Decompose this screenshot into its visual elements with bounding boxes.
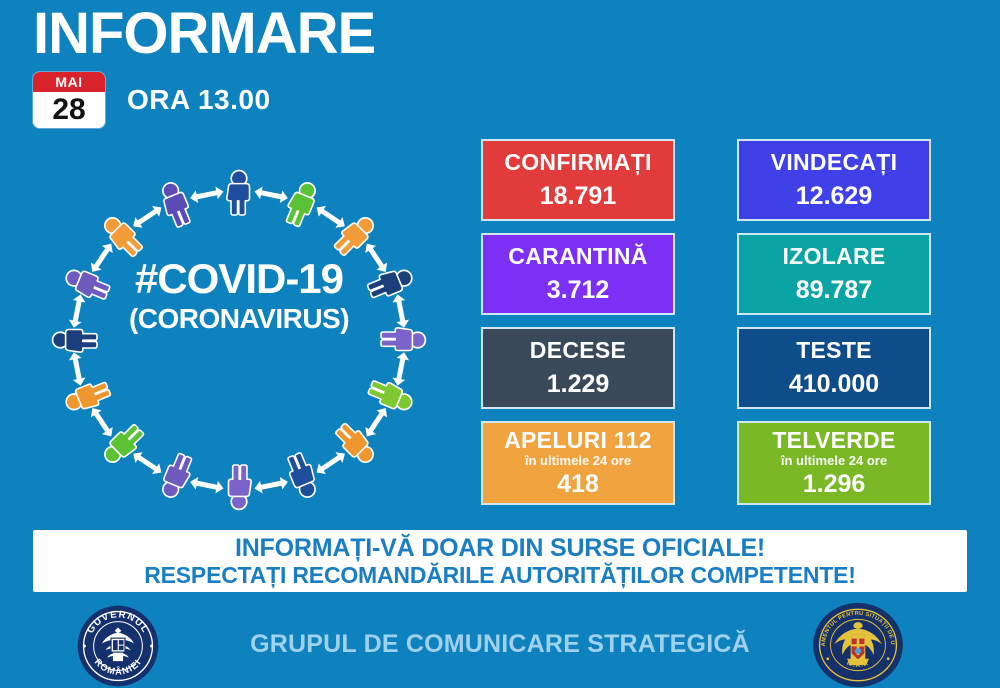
stat-note-telverde: în ultimele 24 ore [781, 453, 887, 468]
stat-box-confirmati: CONFIRMAȚI18.791 [481, 139, 675, 221]
stat-box-telverde: TELVERDEîn ultimele 24 ore1.296 [737, 421, 931, 505]
stat-box-teste: TESTE410.000 [737, 327, 931, 409]
connector-arrow-icon [253, 476, 289, 495]
stat-box-apeluri-112: APELURI 112în ultimele 24 ore418 [481, 421, 675, 505]
person-figure-icon [158, 451, 196, 501]
connector-arrow-icon [361, 240, 391, 275]
stat-value-confirmati: 18.791 [540, 181, 616, 211]
person-figure-icon [53, 330, 97, 353]
stat-value-carantina: 3.712 [547, 275, 610, 305]
person-figure-icon [282, 179, 320, 229]
infographic-canvas: INFORMARE MAI 28 ORA 13.00 #COVID-19 (CO… [0, 0, 1000, 688]
stat-value-apeluri-112: 418 [557, 469, 599, 499]
stat-label-vindecati: VINDECAȚI [771, 149, 898, 175]
official-sources-banner: INFORMAȚI-VĂ DOAR DIN SURSE OFICIALE! RE… [33, 530, 967, 592]
connector-arrow-icon [391, 293, 410, 329]
connector-arrow-icon [253, 185, 289, 204]
stat-label-teste: TESTE [796, 337, 872, 363]
stat-label-izolare: IZOLARE [782, 243, 885, 269]
stat-label-carantina: CARANTINĂ [508, 243, 647, 269]
stat-value-telverde: 1.296 [803, 469, 866, 499]
stat-label-confirmati: CONFIRMAȚI [504, 149, 651, 175]
covid-circle-graphic: #COVID-19 (CORONAVIRUS) [24, 160, 454, 520]
person-figure-icon [62, 266, 112, 304]
person-figure-icon [63, 378, 113, 416]
person-figure-icon [227, 171, 250, 215]
calendar-month: MAI [33, 72, 105, 92]
calendar-day: 28 [33, 92, 105, 128]
stat-value-teste: 410.000 [789, 369, 879, 399]
hour-label: ORA 13.00 [127, 84, 271, 116]
connector-arrow-icon [189, 476, 225, 495]
date-time-row: MAI 28 ORA 13.00 [33, 72, 271, 128]
banner-line-2: RESPECTAȚI RECOMANDĂRILE AUTORITĂȚILOR C… [144, 562, 856, 588]
person-figure-icon [156, 179, 194, 229]
guvernul-romaniei-logo: GUVERNUL ROMÂNIEI [76, 604, 160, 688]
stat-row: APELURI 112în ultimele 24 ore418TELVERDE… [481, 421, 931, 505]
connector-arrow-icon [313, 448, 348, 478]
stat-row: DECESE1.229TESTE410.000 [481, 327, 931, 409]
connector-arrow-icon [391, 351, 410, 387]
connector-arrow-icon [361, 405, 391, 440]
people-circle-svg [24, 160, 454, 520]
stat-box-carantina: CARANTINĂ3.712 [481, 233, 675, 315]
banner-line-1: INFORMAȚI-VĂ DOAR DIN SURSE OFICIALE! [235, 534, 765, 562]
dsu-mai-logo: DEPARTAMENTUL PENTRU SITUAȚII DE URGENȚĂ… [812, 602, 904, 688]
connector-arrow-icon [68, 351, 87, 387]
connector-arrow-icon [87, 240, 117, 275]
stat-box-decese: DECESE1.229 [481, 327, 675, 409]
connector-arrow-icon [313, 202, 348, 232]
person-figure-icon [381, 328, 425, 351]
page-title: INFORMARE [33, 2, 375, 66]
statistics-grid: CONFIRMAȚI18.791VINDECAȚI12.629CARANTINĂ… [481, 139, 931, 517]
person-figure-icon [229, 465, 252, 509]
stat-row: CARANTINĂ3.712IZOLARE89.787 [481, 233, 931, 315]
connector-arrow-icon [130, 448, 165, 478]
person-figure-icon [366, 377, 416, 415]
stat-value-vindecati: 12.629 [796, 181, 872, 211]
person-figure-icon [365, 264, 415, 302]
stat-label-telverde: TELVERDE [772, 428, 895, 453]
stat-box-izolare: IZOLARE89.787 [737, 233, 931, 315]
stat-box-vindecati: VINDECAȚI12.629 [737, 139, 931, 221]
stat-label-apeluri-112: APELURI 112 [504, 428, 652, 453]
connector-arrow-icon [87, 405, 117, 440]
stat-value-decese: 1.229 [547, 369, 610, 399]
stat-note-apeluri-112: în ultimele 24 ore [525, 453, 631, 468]
person-figure-icon [284, 451, 322, 501]
stat-row: CONFIRMAȚI18.791VINDECAȚI12.629 [481, 139, 931, 221]
stat-value-izolare: 89.787 [796, 275, 872, 305]
connector-arrow-icon [68, 293, 87, 329]
stat-label-decese: DECESE [530, 337, 626, 363]
connector-arrow-icon [130, 202, 165, 232]
connector-arrow-icon [189, 185, 225, 204]
calendar-icon: MAI 28 [33, 72, 105, 128]
